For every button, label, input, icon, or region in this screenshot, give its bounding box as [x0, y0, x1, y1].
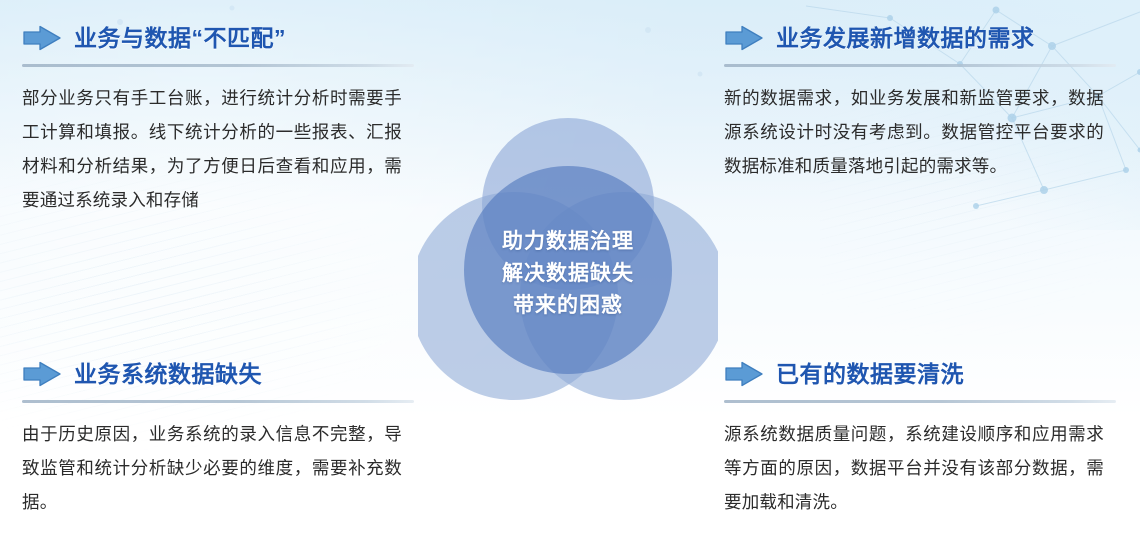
panel-bottom-left-body: 由于历史原因，业务系统的录入信息不完整，导致监管和统计分析缺少必要的维度，需要补… — [22, 417, 402, 519]
panel-bottom-right-divider — [724, 400, 1116, 403]
arrow-right-icon — [724, 25, 764, 51]
panel-bottom-left-header: 业务系统数据缺失 — [22, 352, 414, 396]
panel-bottom-right-body: 源系统数据质量问题，系统建设顺序和应用需求等方面的原因，数据平台并没有该部分数据… — [724, 417, 1104, 519]
panel-top-left: 业务与数据“不匹配” 部分业务只有手工台账，进行统计分析时需要手工计算和填报。线… — [22, 16, 414, 217]
panel-top-left-title: 业务与数据“不匹配” — [74, 27, 286, 50]
panel-bottom-left-divider — [22, 400, 414, 403]
panel-top-right-body: 新的数据需求，如业务发展和新监管要求，数据源系统设计时没有考虑到。数据管控平台要… — [724, 81, 1104, 183]
slide-canvas: 助力数据治理 解决数据缺失 带来的困惑 业务与数据“不匹配” 部分业务只有手工台… — [0, 0, 1140, 536]
arrow-right-icon — [22, 25, 62, 51]
venn-circles-svg — [418, 118, 718, 408]
panel-bottom-right-title: 已有的数据要清洗 — [776, 363, 964, 386]
panel-top-left-body: 部分业务只有手工台账，进行统计分析时需要手工计算和填报。线下统计分析的一些报表、… — [22, 81, 402, 217]
panel-bottom-left: 业务系统数据缺失 由于历史原因，业务系统的录入信息不完整，导致监管和统计分析缺少… — [22, 352, 414, 519]
venn-diagram: 助力数据治理 解决数据缺失 带来的困惑 — [418, 118, 718, 408]
panel-top-left-header: 业务与数据“不匹配” — [22, 16, 414, 60]
panel-top-right-title: 业务发展新增数据的需求 — [776, 27, 1035, 50]
panel-top-right-header: 业务发展新增数据的需求 — [724, 16, 1116, 60]
panel-bottom-right: 已有的数据要清洗 源系统数据质量问题，系统建设顺序和应用需求等方面的原因，数据平… — [724, 352, 1116, 519]
venn-circle-center — [464, 166, 672, 374]
arrow-right-icon — [22, 361, 62, 387]
panel-top-left-divider — [22, 64, 414, 67]
panel-top-right: 业务发展新增数据的需求 新的数据需求，如业务发展和新监管要求，数据源系统设计时没… — [724, 16, 1116, 183]
panel-bottom-right-header: 已有的数据要清洗 — [724, 352, 1116, 396]
panel-top-right-divider — [724, 64, 1116, 67]
panel-bottom-left-title: 业务系统数据缺失 — [74, 363, 262, 386]
arrow-right-icon — [724, 361, 764, 387]
